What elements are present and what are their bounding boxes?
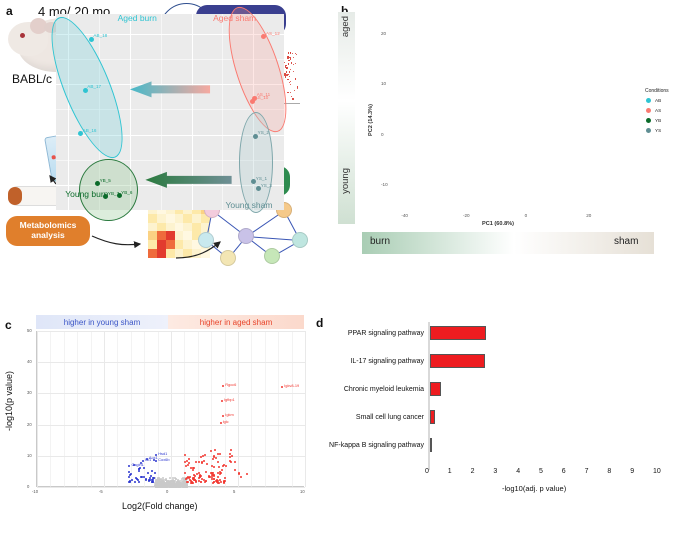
volcano-point-up	[218, 466, 220, 468]
volcano-point	[287, 79, 288, 80]
volcano-point-up	[212, 458, 214, 460]
volcano-xtick: -10	[32, 489, 38, 494]
volcano-point-up	[215, 457, 217, 459]
volcano-point-down	[145, 479, 147, 481]
pca-plot-area: AB_18AB_17AB_16AS_12AS_11AS_10YB_5YB_7YB…	[56, 14, 284, 210]
volcano-point	[287, 92, 288, 93]
volcano-point-up	[188, 462, 190, 464]
bar-rect[interactable]	[430, 410, 435, 424]
volcano-point-up	[184, 454, 186, 456]
volcano-point-down	[151, 470, 153, 472]
volcano-point-up	[188, 458, 190, 460]
volcano-grid-vertical	[158, 331, 159, 487]
volcano-xtick: 5	[233, 489, 235, 494]
bar-xtick: 8	[607, 468, 611, 475]
volcano-point-up	[184, 472, 186, 474]
volcano-gene-label: Idi1	[145, 457, 151, 462]
bar-category-label: IL-17 signaling pathway	[312, 358, 424, 365]
volcano-gene-label: Rgcc6	[225, 382, 236, 387]
heatmap-cell	[166, 223, 175, 232]
volcano-grid-vertical	[211, 331, 212, 487]
pca-point-label: YS_2	[258, 130, 269, 135]
volcano-ytick: 10	[27, 453, 32, 458]
cluster-title-young-burn: Young burn	[65, 189, 108, 199]
legend-label-YS[interactable]: YS	[655, 128, 661, 133]
volcano-ytick: 30	[27, 390, 32, 395]
legend-dot-AS	[646, 108, 651, 113]
pca-legend-title: Conditions	[645, 88, 669, 94]
bar-xtick: 0	[425, 468, 429, 475]
heatmap-cell	[166, 214, 175, 223]
volcano-grid-vertical	[104, 331, 105, 487]
volcano-grid-vertical	[184, 331, 185, 487]
volcano-point-up	[204, 454, 206, 456]
banner-higher-aged-sham: higher in aged sham	[168, 315, 304, 329]
volcano-point-up	[200, 481, 202, 483]
heatmap-cell	[183, 231, 192, 240]
volcano-point	[293, 71, 294, 72]
treatment-gradient-left-label: burn	[370, 236, 390, 247]
volcano-point	[294, 90, 295, 91]
volcano-point	[293, 57, 294, 58]
pca-point-label: AB_18	[93, 33, 107, 38]
volcano-point-up	[210, 450, 212, 452]
volcano-point-down	[145, 478, 147, 480]
volcano-point-up	[192, 469, 194, 471]
volcano-gene-label: Hsd1	[158, 451, 167, 456]
network-node	[220, 250, 236, 266]
volcano-yaxis-title: -log10(p value)	[4, 371, 14, 431]
volcano-point-labeled	[221, 400, 223, 402]
volcano-point-up	[205, 471, 207, 473]
volcano-point-up	[206, 463, 208, 465]
heatmap-cell	[166, 231, 175, 240]
heatmap-cell	[183, 214, 192, 223]
volcano-grid-vertical	[117, 331, 118, 487]
treatment-gradient-bar	[362, 232, 654, 254]
volcano-point	[290, 84, 291, 85]
volcano-gene-label: Igkm	[225, 412, 233, 417]
volcano-point-up	[220, 481, 222, 483]
pca-ytick: 0	[381, 132, 384, 137]
volcano-grid-vertical	[238, 331, 239, 487]
heatmap-cell	[157, 223, 166, 232]
heatmap-cell	[148, 249, 157, 258]
heatmap-cell	[166, 249, 175, 258]
volcano-point-down	[141, 476, 143, 478]
volcano-ytick: 40	[27, 359, 32, 364]
volcano-gene-label: Iglc	[223, 419, 229, 424]
volcano-grid-vertical	[91, 331, 92, 487]
volcano-point-up	[205, 480, 207, 482]
volcano-gene-label: Gsgln1	[131, 462, 143, 467]
volcano-point-up	[217, 480, 219, 482]
volcano-grid-horizontal	[37, 456, 305, 457]
heatmap-cell	[148, 223, 157, 232]
volcano-gene-label: Cox6b	[158, 457, 169, 462]
volcano-point-up	[225, 465, 227, 467]
volcano-point	[287, 56, 288, 57]
volcano-point	[297, 88, 298, 89]
volcano-point-up	[187, 464, 189, 466]
volcano-point-up	[195, 461, 197, 463]
volcano-point-up	[234, 469, 236, 471]
volcano-point-down	[138, 481, 140, 483]
cluster-title-aged-burn: Aged burn	[118, 13, 157, 23]
volcano-point-up	[213, 478, 215, 480]
volcano-point-up	[213, 475, 215, 477]
volcano-point-up	[217, 453, 219, 455]
pca-point-label: YB_6	[121, 190, 132, 195]
metabolomics-analysis-label: Metabolomics analysis	[6, 216, 90, 246]
bar-xtick: 10	[653, 468, 661, 475]
bar-xtick: 3	[493, 468, 497, 475]
volcano-point-up	[186, 477, 188, 479]
volcano-point	[285, 76, 286, 77]
volcano-point	[295, 63, 296, 64]
volcano-point	[288, 63, 289, 64]
volcano-point	[290, 69, 291, 70]
volcano-point-up	[193, 467, 195, 469]
bar-xtick: 6	[562, 468, 566, 475]
legend-label-AB[interactable]: AB	[655, 98, 661, 103]
volcano-xtick: 0	[166, 489, 168, 494]
volcano-grid-vertical	[171, 331, 172, 487]
volcano-point	[289, 57, 290, 58]
pca-xtick: -40	[401, 213, 408, 218]
network-node	[292, 232, 308, 248]
volcano-grid-horizontal	[37, 425, 305, 426]
pca-point-label: YS_3	[261, 183, 272, 188]
volcano-point-ns	[174, 485, 176, 487]
volcano-point	[290, 58, 291, 59]
legend-dot-YS	[646, 128, 651, 133]
pca-point-label: YB_5	[100, 178, 111, 183]
pca-xaxis-title: PC1 (60.8%)	[482, 221, 514, 227]
heatmap-cell	[148, 214, 157, 223]
volcano-grid-vertical	[64, 331, 65, 487]
volcano-grid-horizontal	[37, 393, 305, 394]
volcano-point-up	[201, 461, 203, 463]
volcano-point-down	[147, 472, 149, 474]
volcano-point	[290, 52, 291, 53]
volcano-grid-vertical	[278, 331, 279, 487]
volcano-point-up	[199, 475, 201, 477]
volcano-grid-horizontal	[37, 362, 305, 363]
pca-ytick: -10	[381, 182, 388, 187]
volcano-point-up	[231, 455, 233, 457]
volcano-point-ns	[159, 481, 161, 483]
heatmap-cell	[175, 231, 184, 240]
volcano-grid-vertical	[50, 331, 51, 487]
volcano-point-up	[217, 476, 219, 478]
volcano-point	[290, 92, 291, 93]
heatmap-cell	[148, 240, 157, 249]
volcano-point-down	[138, 470, 140, 472]
volcano-point-up	[198, 480, 200, 482]
volcano-point	[286, 71, 287, 72]
volcano-point-ns	[175, 478, 177, 480]
volcano-point-up	[185, 465, 187, 467]
volcano-point	[289, 71, 290, 72]
volcano-point	[292, 98, 293, 99]
volcano-point-labeled	[281, 386, 283, 388]
volcano-point-up	[213, 466, 215, 468]
panel-c-letter: c	[5, 318, 12, 332]
volcano-point-up	[240, 476, 242, 478]
volcano-point-labeled	[220, 422, 222, 424]
volcano-point	[288, 52, 289, 53]
pca-point-label: AS_10	[255, 95, 269, 100]
volcano-point-up	[189, 479, 191, 481]
volcano-point	[295, 53, 296, 54]
treatment-gradient-right-label: sham	[614, 236, 638, 247]
pca-point-label: AS_12	[266, 31, 280, 36]
bar-rect[interactable]	[430, 326, 486, 340]
volcano-xtick: 10	[300, 489, 305, 494]
volcano-point	[289, 76, 290, 77]
heatmap-cell	[157, 214, 166, 223]
volcano-point-up	[234, 461, 236, 463]
heatmap-cell	[175, 240, 184, 249]
volcano-point-ns	[170, 486, 172, 488]
panel-d-letter: d	[316, 316, 323, 330]
panel-a-letter: a	[6, 4, 13, 18]
volcano-point	[291, 96, 292, 97]
volcano-point-ns	[161, 484, 163, 486]
volcano-grid-vertical	[305, 331, 306, 487]
volcano-point	[285, 65, 286, 66]
volcano-plot-area: Igkv8-19Rgcc6Igfbp1IgkmIglcHsd1Aox1Cox6b…	[36, 331, 304, 487]
bar-xtick: 9	[630, 468, 634, 475]
volcano-point	[286, 67, 287, 68]
heatmap-cell	[183, 249, 192, 258]
heatmap-cell	[166, 240, 175, 249]
legend-dot-AB	[646, 98, 651, 103]
volcano-point-up	[192, 482, 194, 484]
volcano-point-down	[154, 472, 156, 474]
heatmap-cell	[175, 223, 184, 232]
volcano-ytick: 50	[27, 328, 32, 333]
volcano-point-down	[134, 481, 136, 483]
bar-rect[interactable]	[430, 438, 432, 452]
network-node	[238, 228, 254, 244]
volcano-point-up	[198, 461, 200, 463]
legend-dot-YB	[646, 118, 651, 123]
bar-category-label: PPAR signaling pathway	[312, 330, 424, 337]
volcano-point	[295, 78, 296, 79]
volcano-point	[288, 60, 289, 61]
heatmap-cell	[148, 231, 157, 240]
pca-xtick: 0	[525, 213, 528, 218]
bar-xtick: 2	[471, 468, 475, 475]
volcano-ytick: 0	[27, 484, 29, 489]
pca-transition-arrows	[56, 14, 284, 210]
volcano-ytick: 20	[27, 422, 32, 427]
volcano-point-ns	[184, 486, 186, 488]
heatmap-cell	[157, 231, 166, 240]
heatmap-cell	[175, 214, 184, 223]
volcano-grid-vertical	[198, 331, 199, 487]
pca-ytick: 10	[381, 81, 386, 86]
volcano-point-down	[128, 481, 130, 483]
network-node	[264, 248, 280, 264]
bar-category-label: Small cell lung cancer	[312, 414, 424, 421]
mouse-strain-label: BABL/c	[12, 72, 52, 86]
cluster-title-young-sham: Young sham	[225, 200, 272, 210]
volcano-xaxis-title: Log2(Fold change)	[122, 501, 198, 511]
bar-category-label: NF-kappa B signaling pathway	[312, 442, 424, 449]
bar-category-label: Chronic myeloid leukemia	[312, 386, 424, 393]
bar-xtick: 4	[516, 468, 520, 475]
banner-higher-young-sham: higher in young sham	[36, 315, 168, 329]
volcano-xtick: -5	[99, 489, 103, 494]
volcano-point-up	[193, 474, 195, 476]
network-node	[198, 232, 214, 248]
volcano-point-up	[214, 449, 216, 451]
pca-xtick: 20	[586, 213, 591, 218]
volcano-point	[292, 53, 293, 54]
pca-xtick: -20	[463, 213, 470, 218]
heatmap-cell	[157, 249, 166, 258]
volcano-point	[293, 64, 294, 65]
volcano-point	[287, 74, 288, 75]
mouse-eye-icon	[20, 33, 25, 38]
bar-rect[interactable]	[430, 382, 441, 396]
volcano-grid-vertical	[144, 331, 145, 487]
heatmap-cell	[183, 240, 192, 249]
volcano-point-up	[221, 469, 223, 471]
volcano-grid-horizontal	[37, 331, 305, 332]
volcano-grid-vertical	[265, 331, 266, 487]
heatmap-cell	[157, 240, 166, 249]
heatmap-cell	[175, 249, 184, 258]
legend-label-YB[interactable]: YB	[655, 118, 661, 123]
volcano-point-up	[217, 461, 219, 463]
volcano-point	[296, 54, 297, 55]
volcano-point-up	[202, 455, 204, 457]
pca-point-label: AB_17	[87, 84, 101, 89]
volcano-point-up	[189, 476, 191, 478]
bar-xtick: 5	[539, 468, 543, 475]
cluster-title-aged-sham: Aged sham	[213, 13, 256, 23]
volcano-grid-vertical	[37, 331, 38, 487]
volcano-gene-label: Igfbp1	[224, 397, 235, 402]
age-gradient-bottom-label: young	[340, 168, 351, 194]
volcano-point-up	[212, 482, 214, 484]
heatmap-cell	[183, 223, 192, 232]
bar-xtick: 7	[585, 468, 589, 475]
bar-xaxis-title: -log10(adj. p value)	[502, 484, 566, 493]
volcano-point-up	[246, 473, 248, 475]
volcano-point-up	[230, 449, 232, 451]
volcano-point-down	[153, 477, 155, 479]
pca-point-label: YS_1	[256, 176, 267, 181]
volcano-point-down	[150, 475, 152, 477]
volcano-grid-vertical	[292, 331, 293, 487]
legend-label-AS[interactable]: AS	[655, 108, 661, 113]
volcano-grid-vertical	[251, 331, 252, 487]
pca-point-label: AB_16	[83, 128, 97, 133]
bar-xtick: 1	[448, 468, 452, 475]
volcano-grid-vertical	[77, 331, 78, 487]
bar-rect[interactable]	[430, 354, 485, 368]
volcano-point-up	[203, 460, 205, 462]
pca-ytick: 20	[381, 31, 386, 36]
volcano-point	[290, 81, 291, 82]
volcano-point-ns	[157, 484, 159, 486]
volcano-point-up	[186, 481, 188, 483]
pca-yaxis-title: PC2 (14.3%)	[368, 104, 374, 136]
volcano-gene-label: Igkv8-19	[284, 383, 299, 388]
volcano-point-up	[224, 480, 226, 482]
age-gradient-top-label: aged	[340, 16, 351, 37]
volcano-point	[297, 86, 298, 87]
volcano-point-up	[224, 477, 226, 479]
